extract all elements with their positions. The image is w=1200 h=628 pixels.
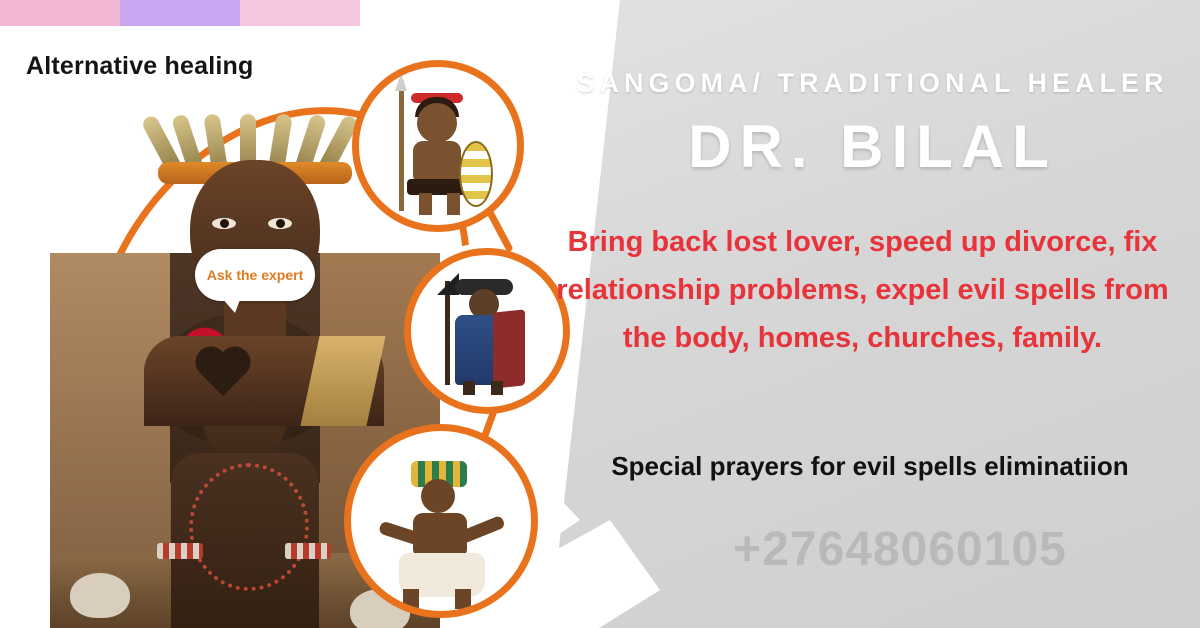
pupil-left: [220, 219, 229, 228]
top-bar-segment: [360, 0, 540, 26]
spear-shaft: [399, 81, 404, 211]
staff: [445, 281, 450, 385]
special-prayers-text: Special prayers for evil spells eliminat…: [600, 445, 1140, 487]
bead-necklace: [189, 463, 309, 591]
top-bar-segment: [240, 0, 360, 26]
top-bar-segment: [120, 0, 240, 26]
leg-left: [403, 589, 419, 609]
leg-right: [491, 381, 503, 395]
circle-zulu-warrior: [352, 60, 524, 232]
speech-bubble-text: Ask the expert: [207, 267, 303, 283]
shield-icon: [459, 141, 493, 207]
arm-band-left: [157, 543, 203, 559]
phone-number-large: +27648060105: [600, 522, 1200, 577]
warrior-head: [417, 103, 457, 143]
leg-left: [463, 381, 475, 395]
page-title: Alternative healing: [26, 52, 253, 81]
leg-left: [419, 193, 432, 215]
chicken-shape: [70, 573, 130, 618]
leg-right: [455, 589, 471, 609]
kicker-text: SANGOMA/ TRADITIONAL HEALER: [565, 68, 1180, 99]
spear-tip-icon: [395, 73, 407, 91]
circle-dancing-sangoma: [344, 424, 538, 618]
leg-right: [447, 193, 460, 215]
top-bar-segment: [0, 0, 120, 26]
healer-name-title: DR. BILAL: [565, 112, 1180, 181]
services-text: Bring back lost lover, speed up divorce,…: [540, 218, 1185, 362]
top-healer-illustration: [130, 90, 380, 350]
cape: [493, 309, 525, 388]
poster-canvas: Alternative healing +27648060105 Dr. Bil…: [0, 0, 1200, 628]
heart-inner-cutout: [192, 348, 254, 404]
speech-bubble: Ask the expert: [195, 249, 315, 301]
arm-band-right: [285, 543, 331, 559]
dancer-head: [421, 479, 455, 513]
pupil-right: [276, 219, 285, 228]
